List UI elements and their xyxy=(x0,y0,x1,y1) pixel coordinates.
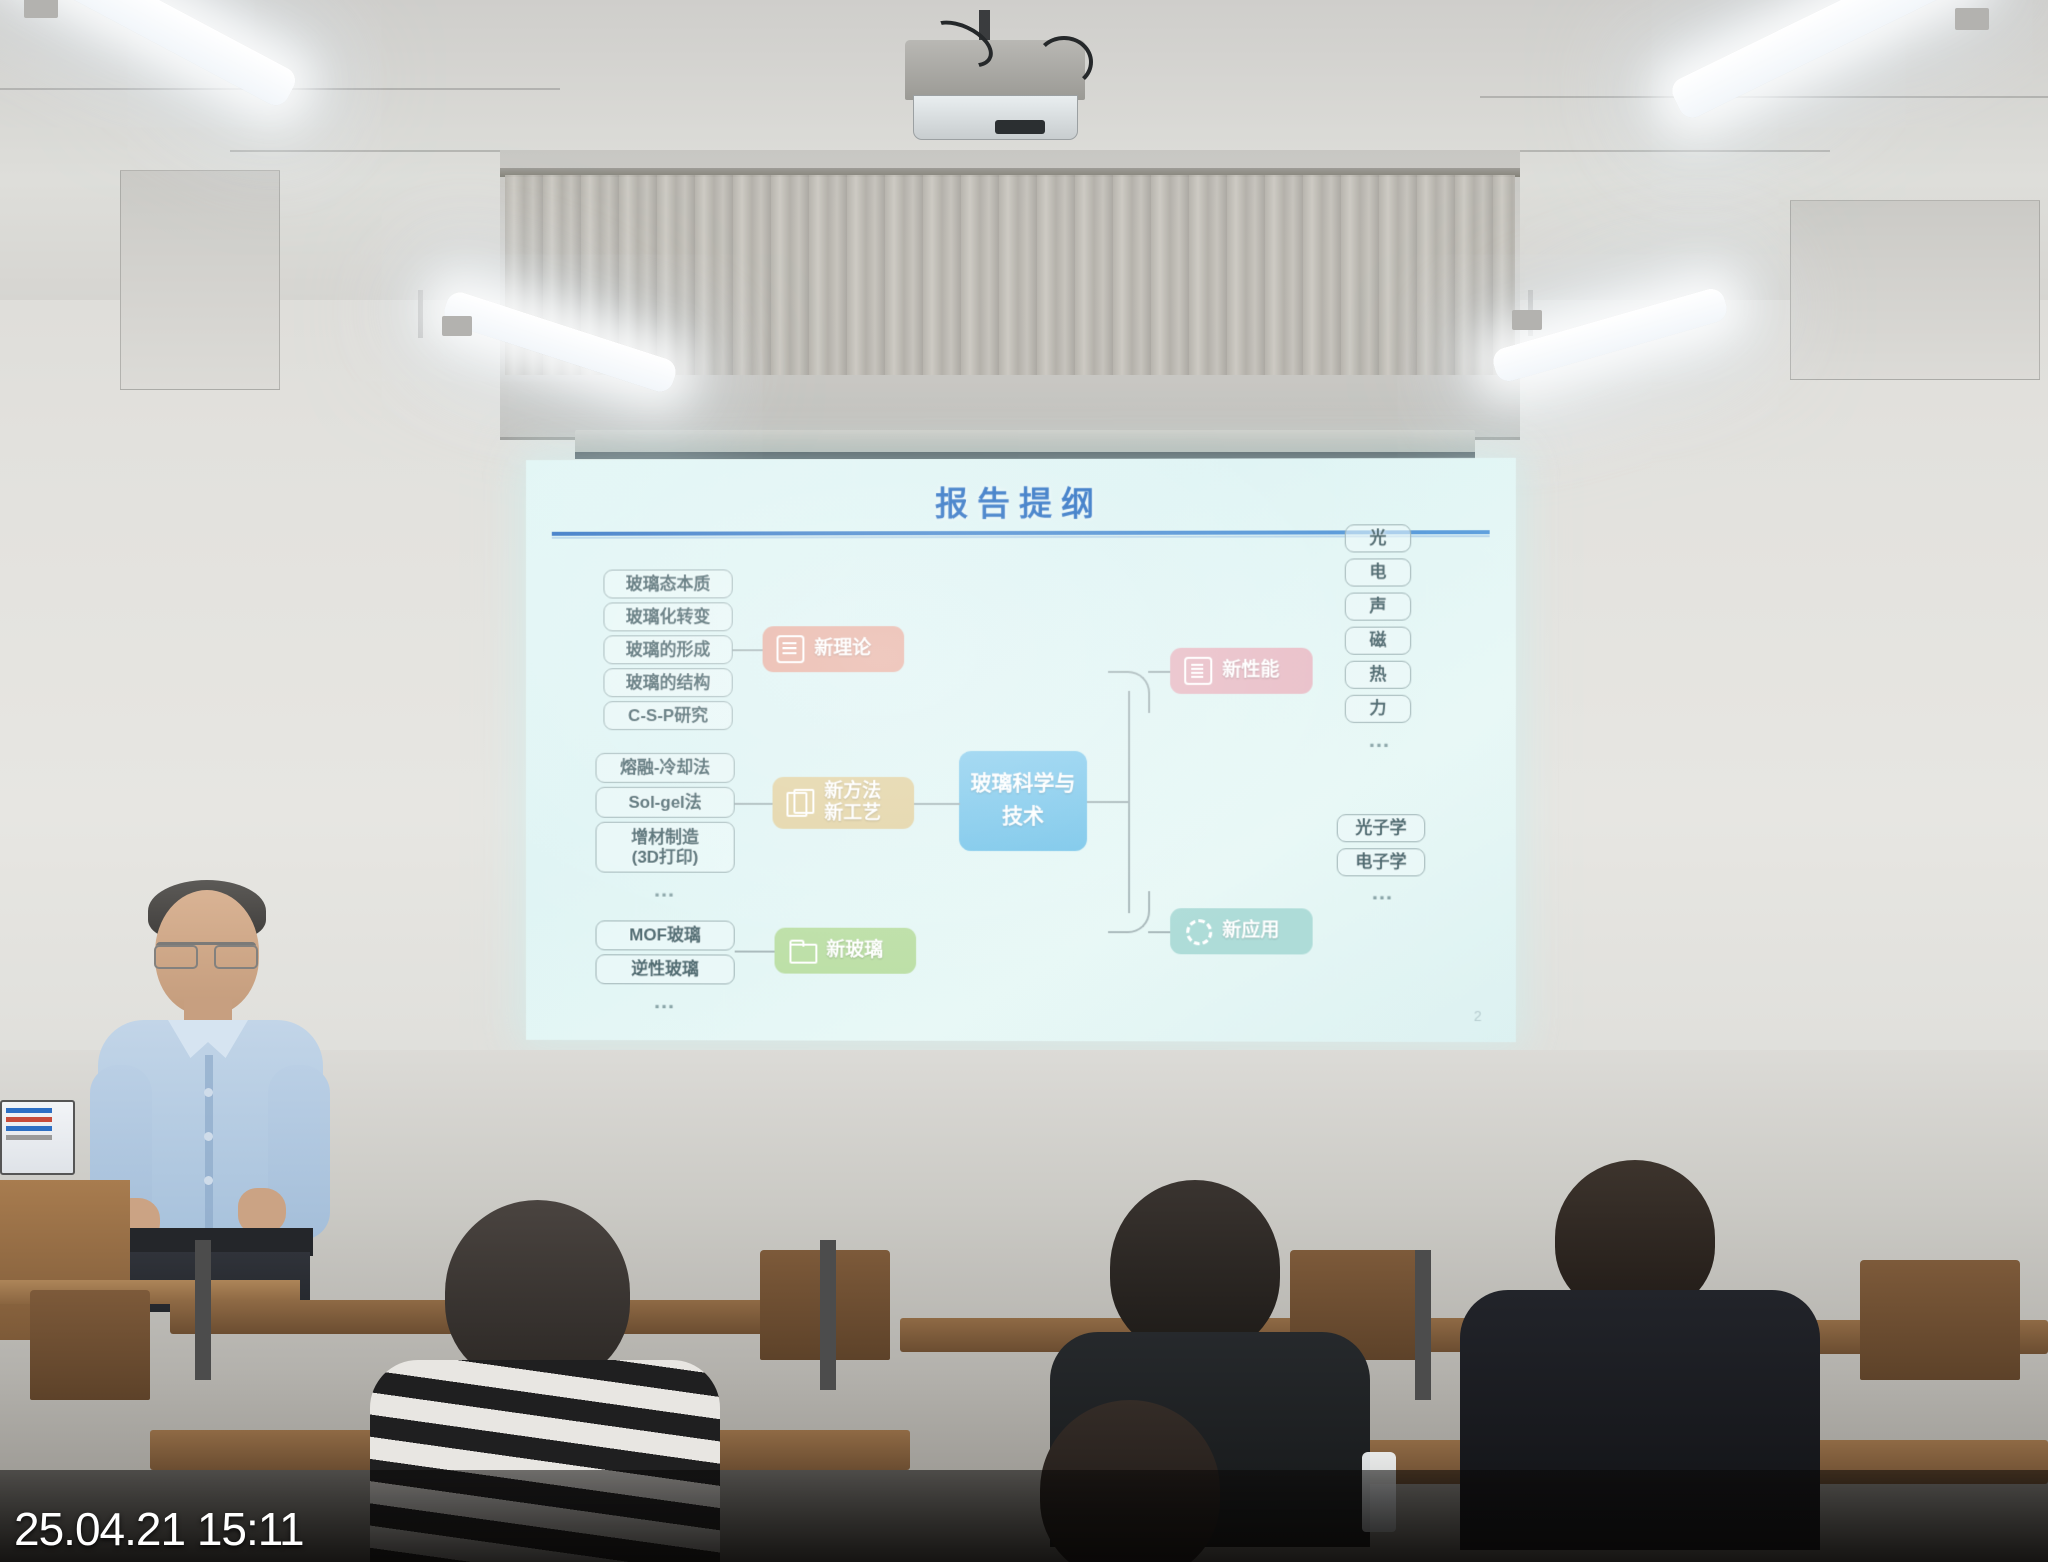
leaf-item: 玻璃的结构 xyxy=(603,668,732,697)
chair-leg xyxy=(195,1240,211,1380)
leaf-item: 电子学 xyxy=(1337,848,1425,876)
category-new-applications: 新应用 xyxy=(1170,908,1312,954)
lecture-hall-scene: 报告提纲 玻璃态本质 玻璃化转变 玻璃的形成 玻璃的结构 C-S-P研究 新理论… xyxy=(0,0,2048,1562)
projector-cable xyxy=(1035,36,1093,88)
projected-slide: 报告提纲 玻璃态本质 玻璃化转变 玻璃的形成 玻璃的结构 C-S-P研究 新理论… xyxy=(526,458,1516,1042)
leaf-item: C-S-P研究 xyxy=(603,701,732,730)
leaf-item: 力 xyxy=(1345,695,1411,723)
category-label: 新理论 xyxy=(814,639,871,660)
category-new-glass: 新玻璃 xyxy=(775,928,917,974)
chair-leg xyxy=(820,1240,836,1390)
connector-line xyxy=(733,649,763,651)
leaf-item: 热 xyxy=(1345,661,1411,689)
shirt-button xyxy=(204,1132,213,1141)
wall-panel xyxy=(1790,200,2040,380)
leaf-item: 玻璃态本质 xyxy=(603,569,732,598)
center-node-line1: 玻璃科学与 xyxy=(971,768,1076,801)
leaf-item: 玻璃的形成 xyxy=(603,635,732,664)
wall-panel xyxy=(120,170,280,390)
chair xyxy=(30,1290,150,1400)
photo-timestamp: 25.04.21 15:11 xyxy=(14,1502,304,1556)
slide-title: 报告提纲 xyxy=(526,476,1516,526)
leaf-ellipsis: … xyxy=(1368,727,1393,753)
photo-bottom-shadow xyxy=(0,1470,2048,1562)
lamp-end-cap xyxy=(1955,8,1989,30)
document-icon xyxy=(786,789,814,817)
connector-line xyxy=(735,803,773,805)
category-label: 新性能 xyxy=(1222,660,1279,681)
category-label: 新应用 xyxy=(1222,921,1279,942)
lamp-stem xyxy=(418,290,423,338)
leaf-item: 光子学 xyxy=(1337,814,1425,842)
audience-head xyxy=(1110,1180,1280,1355)
category-new-properties: 新性能 xyxy=(1170,648,1312,694)
connector-curve xyxy=(1108,891,1150,933)
connector-line xyxy=(1148,671,1170,673)
ceiling-lamp xyxy=(1490,286,1730,385)
list-icon xyxy=(777,635,805,663)
leaf-item: 声 xyxy=(1345,593,1411,621)
connector-line xyxy=(914,803,960,805)
leaf-item: 磁 xyxy=(1345,627,1411,655)
shirt-button xyxy=(204,1176,213,1185)
laptop-screen xyxy=(0,1100,75,1175)
list-lines-icon xyxy=(1184,657,1212,685)
ceiling-seam xyxy=(1480,96,2048,98)
laptop-screen-content xyxy=(6,1108,52,1113)
connector-line xyxy=(735,951,775,953)
dashed-circle-icon xyxy=(1184,917,1212,945)
leaf-item: Sol-gel法 xyxy=(596,787,735,818)
slide-page-number: 2 xyxy=(1474,1008,1482,1024)
leaf-item: 光 xyxy=(1345,524,1411,552)
category-label-line2: 新工艺 xyxy=(824,803,881,825)
center-node-line2: 技术 xyxy=(1002,801,1044,834)
category-label: 新玻璃 xyxy=(826,940,883,961)
ceiling-projector xyxy=(895,10,1095,140)
eyeglasses-icon xyxy=(156,942,256,964)
leaf-ellipsis: … xyxy=(653,877,678,903)
lamp-end-cap xyxy=(24,0,58,18)
connector-line xyxy=(1087,801,1129,803)
connector-line xyxy=(1128,691,1130,913)
leaf-ellipsis: … xyxy=(1371,879,1396,905)
category-label-line1: 新方法 xyxy=(824,781,881,803)
category-new-method: 新方法 新工艺 xyxy=(773,777,915,829)
leaf-ellipsis: … xyxy=(653,988,678,1014)
leaf-item: 熔融-冷却法 xyxy=(596,753,735,783)
window-curtain xyxy=(505,175,1515,375)
leaf-item: 玻璃化转变 xyxy=(603,602,732,631)
shirt-placket xyxy=(205,1055,213,1233)
lamp-end-cap xyxy=(1512,310,1542,330)
connector-line xyxy=(1148,931,1170,933)
shirt-button xyxy=(204,1088,213,1097)
chair xyxy=(1860,1260,2020,1380)
audience-head xyxy=(445,1200,630,1385)
lamp-end-cap xyxy=(442,316,472,336)
projector-lens xyxy=(995,120,1045,134)
connector-curve xyxy=(1108,671,1150,713)
leaf-item: 增材制造 (3D打印) xyxy=(596,822,735,873)
leaf-item: 电 xyxy=(1345,558,1411,586)
leaf-item: 逆性玻璃 xyxy=(596,954,735,984)
center-node-glass-science: 玻璃科学与 技术 xyxy=(959,751,1087,851)
folder-icon xyxy=(788,937,816,965)
chair-leg xyxy=(1415,1250,1431,1400)
category-new-theory: 新理论 xyxy=(763,626,905,672)
leaf-item: MOF玻璃 xyxy=(596,920,735,950)
